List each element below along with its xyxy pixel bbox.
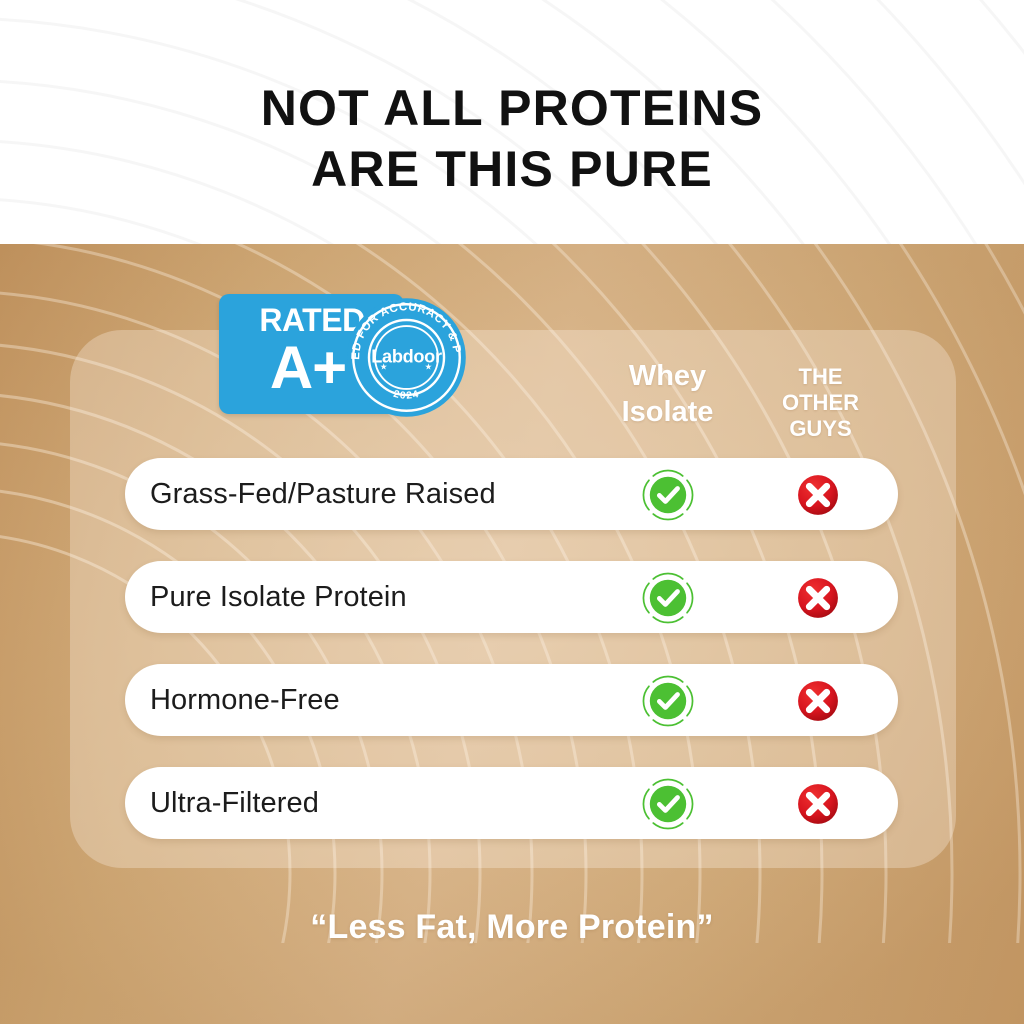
promo-graphic: NOT ALL PROTEINS ARE THIS PURE RATED A+ … [0, 0, 1024, 1024]
page-title: NOT ALL PROTEINS ARE THIS PURE [0, 78, 1024, 200]
row-label: Hormone-Free [150, 664, 340, 736]
table-row: Grass-Fed/Pasture Raised [125, 458, 898, 530]
table-row: Pure Isolate Protein [125, 561, 898, 633]
seal-brand-text: Labdoor [371, 346, 442, 366]
cross-circle-icon [792, 572, 844, 624]
cross-circle-icon [792, 778, 844, 830]
cross-circle-icon [792, 469, 844, 521]
comparison-rows: Grass-Fed/Pasture Raised [125, 458, 898, 870]
cross-circle-icon [792, 675, 844, 727]
check-circle-icon [642, 572, 694, 624]
labdoor-rating-badge: RATED A+ TESTED FOR ACCURACY & PURITY 20… [219, 294, 487, 419]
headline-line-2: ARE THIS PURE [0, 139, 1024, 200]
column-header-competitor-line-1: THE [758, 364, 883, 390]
row-label: Grass-Fed/Pasture Raised [150, 458, 496, 530]
labdoor-seal-icon: TESTED FOR ACCURACY & PURITY 2024 ★ ★ La… [344, 297, 469, 418]
column-header-product-line-2: Isolate [585, 394, 750, 430]
table-row: Ultra-Filtered [125, 767, 898, 839]
check-circle-icon [642, 778, 694, 830]
table-row: Hormone-Free [125, 664, 898, 736]
column-header-product: Whey Isolate [585, 358, 750, 430]
tagline: “Less Fat, More Protein” [0, 908, 1024, 947]
column-header-competitor-line-3: GUYS [758, 416, 883, 442]
row-label: Ultra-Filtered [150, 767, 319, 839]
column-header-product-line-1: Whey [585, 358, 750, 394]
check-circle-icon [642, 675, 694, 727]
check-circle-icon [642, 469, 694, 521]
headline-line-1: NOT ALL PROTEINS [0, 78, 1024, 139]
column-header-competitor: THE OTHER GUYS [758, 364, 883, 442]
row-label: Pure Isolate Protein [150, 561, 407, 633]
column-header-competitor-line-2: OTHER [758, 390, 883, 416]
